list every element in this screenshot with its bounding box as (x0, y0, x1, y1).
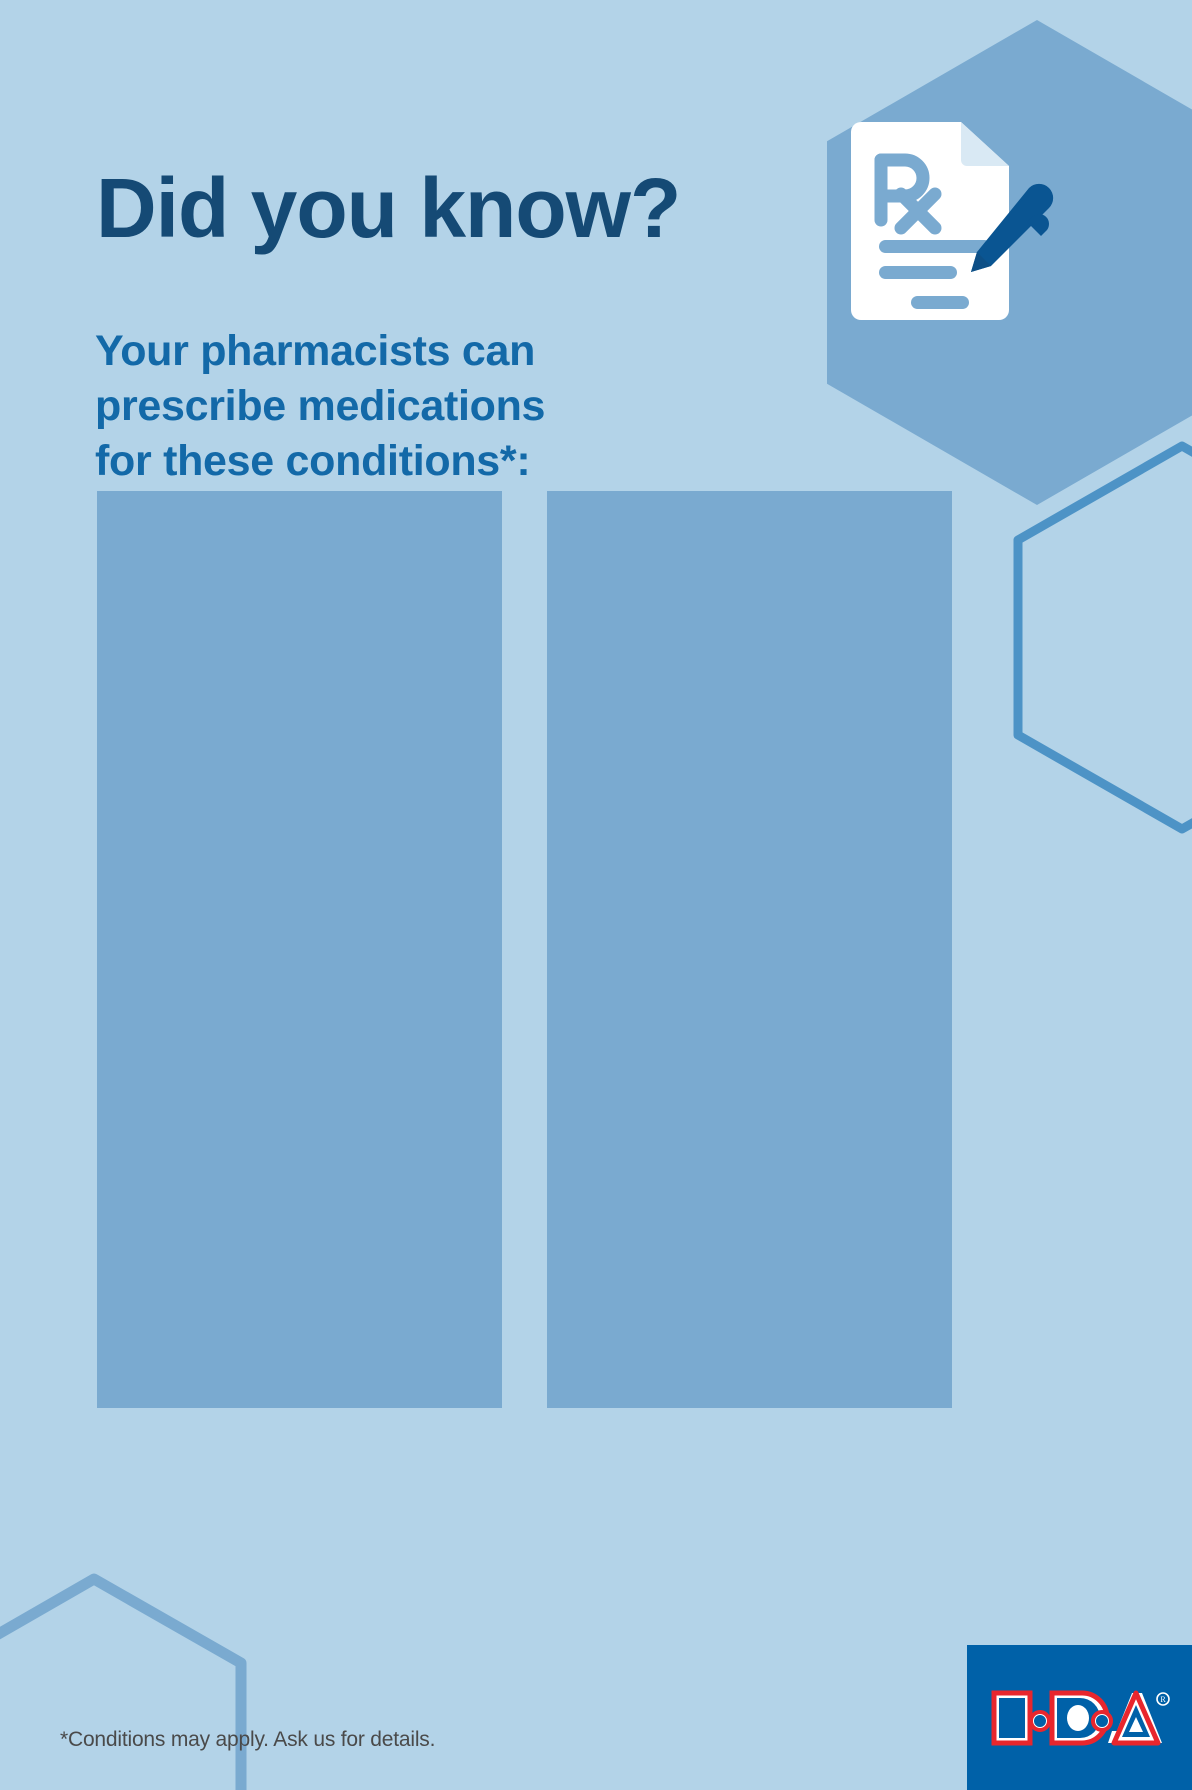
svg-text:R: R (1160, 1695, 1166, 1704)
ida-logo: R (967, 1645, 1192, 1790)
subtitle-line-3: for these conditions*: (95, 434, 545, 489)
prescription-document-icon (843, 120, 1055, 325)
subtitle-line-2: prescribe medications (95, 379, 545, 434)
poster-canvas: Did you know? Your pharmacists can presc… (0, 0, 1192, 1790)
hexagon-outline-bottom-icon (0, 1573, 247, 1790)
page-subtitle: Your pharmacists can prescribe medicatio… (95, 324, 545, 489)
hexagon-outline-right-icon (1012, 440, 1192, 835)
conditions-panels (97, 491, 952, 1408)
ida-logo-icon: R (990, 1687, 1170, 1749)
subtitle-line-1: Your pharmacists can (95, 324, 545, 379)
footnote-disclaimer: *Conditions may apply. Ask us for detail… (60, 1728, 435, 1752)
page-title: Did you know? (96, 166, 680, 250)
conditions-panel-left (97, 491, 502, 1408)
conditions-panel-right (547, 491, 952, 1408)
